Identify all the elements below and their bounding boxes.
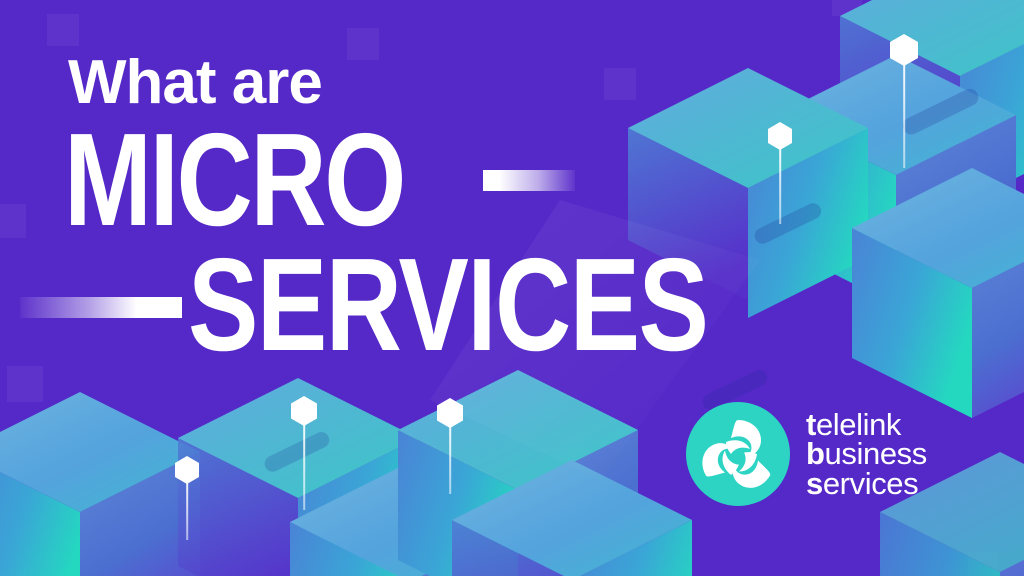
logo-line-2: business [806,439,927,468]
logo-circle [686,402,790,506]
slide-canvas: What are MICRO SERVICES [0,0,1024,576]
logo-line-3-rest: ervices [823,466,918,501]
headline-line-services: SERVICES [20,240,837,370]
logo-line-3-initial: s [806,466,823,501]
dash-before-services [20,297,182,318]
eyebrow-text: What are [68,52,322,114]
headline-line-micro: MICRO [64,120,575,240]
dash-after-micro [483,170,575,191]
headline-word-services: SERVICES [188,239,707,371]
logo-line-3: services [806,469,927,498]
logo-line-1: telelink [806,410,927,439]
headline-word-micro: MICRO [64,114,404,246]
telelink-logo: telelink business services [686,402,927,506]
telelink-triskelion-mark [686,402,790,506]
logo-wordmark: telelink business services [806,410,927,498]
